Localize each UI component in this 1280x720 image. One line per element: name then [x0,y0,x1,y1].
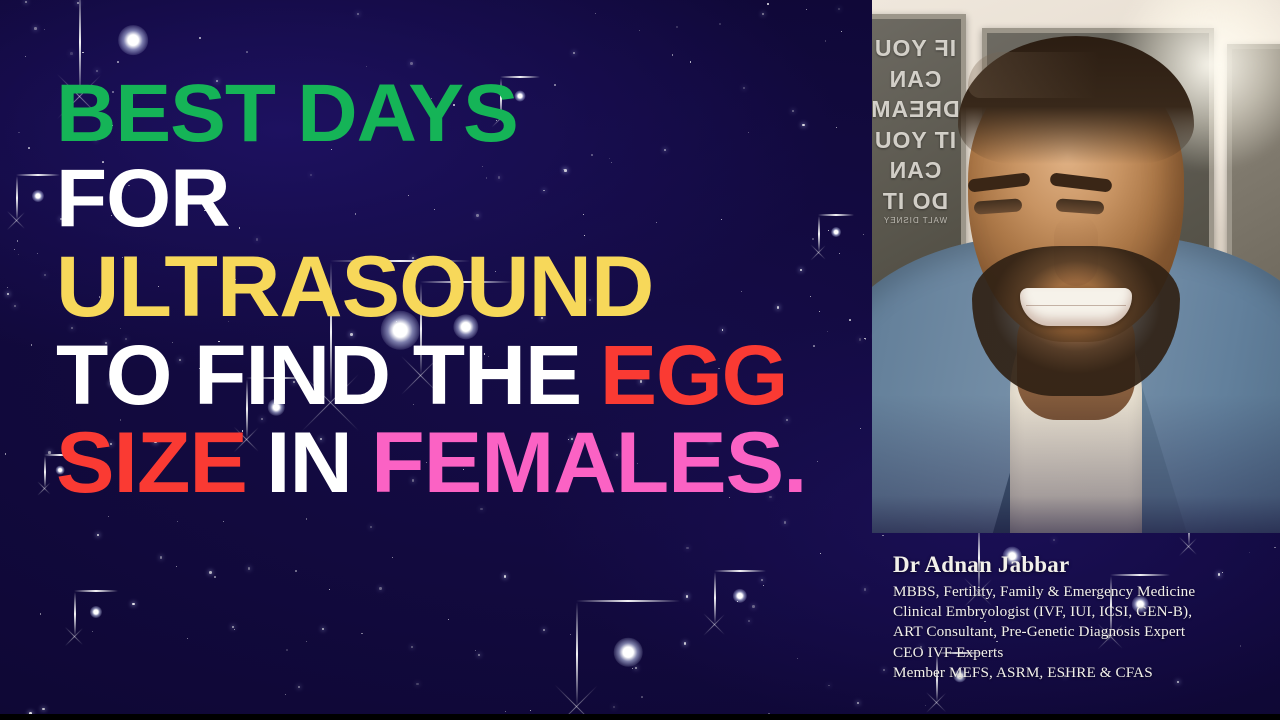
letterbox-bar-bottom [0,714,1280,720]
presenter-photo: IF YOUCANDREAMIT YOUCANDO IT WALT DISNEY [872,0,1280,533]
headline-line-4: TO FIND THEEGG [56,334,892,416]
presenter-caption: Dr Adnan Jabbar MBBS, Fertility, Family … [893,552,1273,683]
star-sparkle [576,600,680,704]
headline-word-for: FOR [56,153,229,244]
headline-word-egg: EGG [600,328,787,422]
headline-word-females: FEMALES. [371,415,806,511]
headline-word-ultrasound: ULTRASOUND [56,239,653,335]
photo-bottom-fade [872,0,1280,533]
presenter-credential-line-3: ART Consultant, Pre-Genetic Diagnosis Ex… [893,622,1273,642]
presenter-credential-line-2: Clinical Embryologist (IVF, IUI, ICSI, G… [893,602,1273,622]
headline-line-1: BEST DAYS [56,74,892,154]
video-frame: BEST DAYS FOR ULTRASOUND TO FIND THEEGG … [0,0,1280,720]
presenter-credential-line-4: CEO IVF Experts [893,643,1273,663]
presenter-credential-line-1: MBBS, Fertility, Family & Emergency Medi… [893,582,1273,602]
headline-line-2: FOR [56,159,892,239]
star-sparkle [16,174,60,218]
headline-line-3: ULTRASOUND [56,245,892,329]
headline-word-to-find-the: TO FIND THE [56,328,581,422]
presenter-name: Dr Adnan Jabbar [893,552,1273,578]
presenter-credential-line-5: Member MEFS, ASRM, ESHRE & CFAS [893,663,1273,683]
headline-word-best-days: BEST DAYS [56,68,518,159]
star-sparkle [74,590,118,634]
headline-word-size: SIZE [56,415,247,511]
headline-block: BEST DAYS FOR ULTRASOUND TO FIND THEEGG … [56,74,876,511]
headline-line-5: SIZEINFEMALES. [56,421,892,505]
star-sparkle [714,570,766,622]
headline-word-in: IN [266,415,352,511]
